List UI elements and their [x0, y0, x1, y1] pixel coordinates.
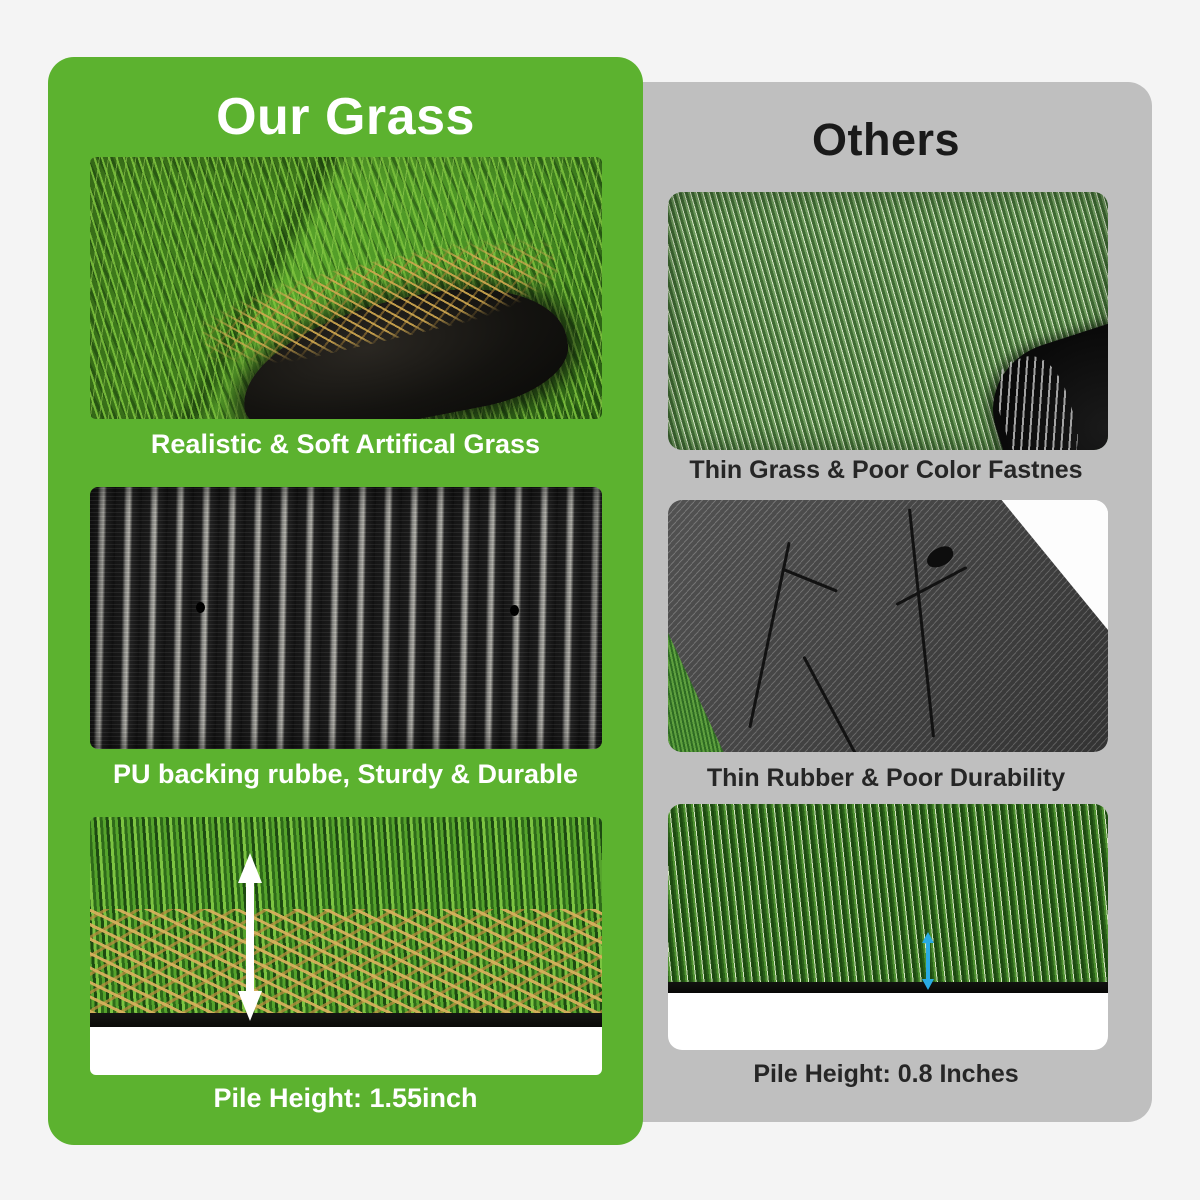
- our-turf-thatch: [90, 909, 602, 1013]
- our-pile-height-photo: [90, 817, 602, 1075]
- our-backing-caption: PU backing rubbe, Sturdy & Durable: [48, 759, 643, 790]
- our-grass-caption: Realistic & Soft Artifical Grass: [48, 429, 643, 460]
- our-grass-comparison-panel: Our Grass Realistic & Soft Artifical Gra…: [48, 57, 643, 1145]
- white-double-arrow-icon: [237, 853, 263, 1021]
- other-pile-height-caption: Pile Height: 0.8 Inches: [620, 1060, 1152, 1089]
- our-pu-backing-photo: [90, 487, 602, 749]
- other-grass-backing-corner: [976, 320, 1108, 450]
- backing-weave-texture: [90, 487, 602, 749]
- other-turf-base: [668, 982, 1108, 993]
- other-thin-grass-photo: [668, 192, 1108, 450]
- blue-double-arrow-icon: [921, 932, 935, 990]
- other-pile-height-photo: [668, 804, 1108, 1050]
- our-panel-title: Our Grass: [48, 87, 643, 147]
- other-cracked-rubber-photo: [668, 500, 1108, 752]
- backing-drainage-hole: [510, 605, 519, 616]
- our-pile-height-caption: Pile Height: 1.55inch: [48, 1083, 643, 1114]
- our-grass-roll-photo: [90, 157, 602, 419]
- other-cracked-rubber-caption: Thin Rubber & Poor Durability: [620, 764, 1152, 793]
- others-panel-title: Others: [620, 114, 1152, 166]
- our-turf-base: [90, 1013, 602, 1027]
- others-comparison-panel: Others Thin Grass & Poor Color Fastnes T…: [620, 82, 1152, 1122]
- backing-drainage-hole: [196, 602, 205, 613]
- other-thin-grass-caption: Thin Grass & Poor Color Fastnes: [620, 456, 1152, 485]
- other-turf-blades: [668, 804, 1108, 988]
